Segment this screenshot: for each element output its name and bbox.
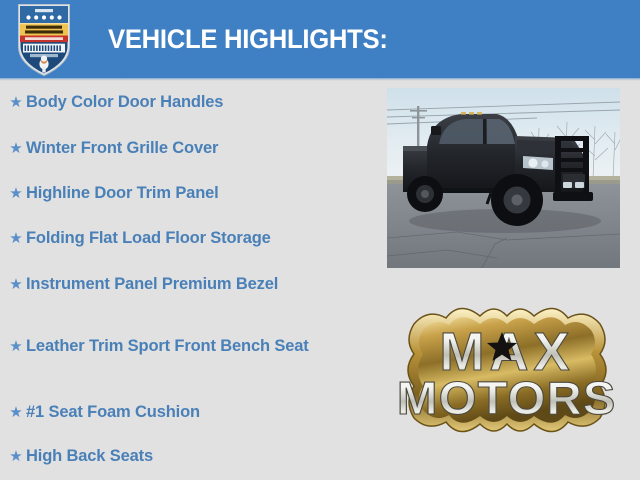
star-bullet-icon: ★ xyxy=(6,92,26,113)
list-item: ★ High Back Seats xyxy=(6,446,368,467)
list-item: ★ Highline Door Trim Panel xyxy=(6,183,368,204)
vehicle-highlights-slide: VEHICLE HIGHLIGHTS: ★ Body Color Door Ha… xyxy=(0,0,640,480)
star-bullet-icon: ★ xyxy=(6,336,26,357)
list-item-label: #1 Seat Foam Cushion xyxy=(26,402,368,423)
star-bullet-icon: ★ xyxy=(6,446,26,467)
star-bullet-icon: ★ xyxy=(6,274,26,295)
list-item-label: Winter Front Grille Cover xyxy=(26,138,368,159)
star-bullet-icon: ★ xyxy=(6,183,26,204)
list-item: ★ Body Color Door Handles xyxy=(6,92,368,113)
list-item-label: Folding Flat Load Floor Storage xyxy=(26,228,368,249)
list-item: ★ #1 Seat Foam Cushion xyxy=(6,402,368,423)
logo-line-motors: MOTORS xyxy=(398,373,616,424)
list-item-label: Instrument Panel Premium Bezel xyxy=(26,274,296,295)
star-bullet-icon: ★ xyxy=(6,138,26,159)
max-motors-logo[interactable]: MAX MOTORS xyxy=(398,296,616,454)
star-bullet-icon: ★ xyxy=(6,402,26,423)
list-item-label: Leather Trim Sport Front Bench Seat xyxy=(26,336,351,357)
page-title: VEHICLE HIGHLIGHTS: xyxy=(108,24,388,55)
list-item-label: Highline Door Trim Panel xyxy=(26,183,368,204)
carfax-lifetime-dealer-badge xyxy=(17,2,71,76)
list-item-label: Body Color Door Handles xyxy=(26,92,368,113)
star-bullet-icon: ★ xyxy=(6,228,26,249)
header-divider xyxy=(0,78,640,81)
header-bar: VEHICLE HIGHLIGHTS: xyxy=(0,0,640,78)
vehicle-highlights-list: ★ Body Color Door Handles ★ Winter Front… xyxy=(0,88,372,480)
list-item: ★ Leather Trim Sport Front Bench Seat xyxy=(6,336,351,357)
list-item-label: High Back Seats xyxy=(26,446,368,467)
list-item: ★ Folding Flat Load Floor Storage xyxy=(6,228,368,249)
list-item: ★ Instrument Panel Premium Bezel xyxy=(6,274,296,295)
vehicle-photo[interactable] xyxy=(387,88,620,268)
list-item: ★ Winter Front Grille Cover xyxy=(6,138,368,159)
